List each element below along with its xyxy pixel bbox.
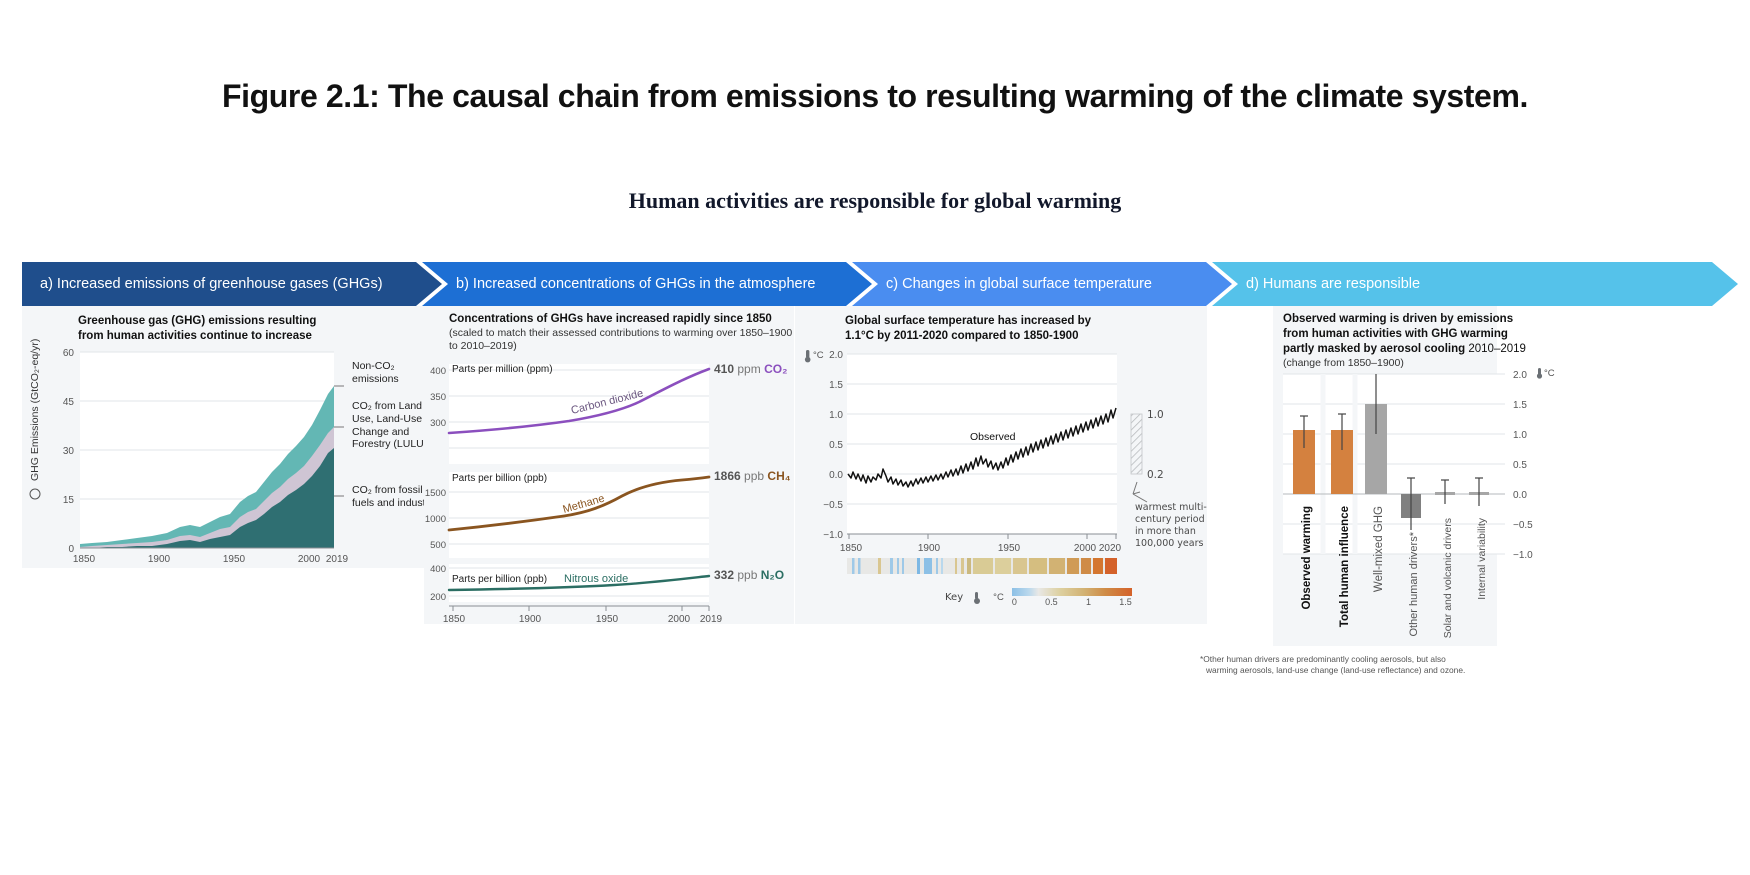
panel-d-cat-total-human-influence: Total human influence <box>1339 506 1351 627</box>
panel-d-cat-observed-warming: Observed warming <box>1301 506 1313 610</box>
panel-c-warming-stripes <box>847 558 1117 574</box>
panel-c-ytick-05: 0.5 <box>829 440 843 451</box>
chevron-d-label: d) Humans are responsible <box>1212 276 1420 292</box>
panel-d-ytick-15: 1.5 <box>1513 400 1527 411</box>
panel-b-subtitle-1: (scaled to match their assessed contribu… <box>449 327 794 340</box>
panel-b-unit-ppb-1: Parts per billion (ppb) <box>452 473 547 484</box>
panel-d-ytick-1: 1.0 <box>1513 430 1527 441</box>
panel-b-ch4-ytick-1000: 1000 <box>425 514 446 525</box>
panel-b-endvalue-co2: 410 ppm CO₂ <box>714 362 787 376</box>
panel-a-xtick-1850: 1850 <box>73 554 96 565</box>
panel-d-ytick-2: 2.0 <box>1513 370 1527 381</box>
panel-c-ytick-1: 1.0 <box>829 410 843 421</box>
panel-c-xtick-2020: 2020 <box>1099 543 1122 554</box>
panel-b-xtick-1900: 1900 <box>519 614 542 624</box>
panel-a-xtick-1900: 1900 <box>148 554 171 565</box>
panel-d-chart: °C 2.0 1.5 1.0 0.5 0.0 −0.5 −1.0 Observe… <box>1273 306 1573 646</box>
panel-b-ch4-ytick-1500: 1500 <box>425 488 446 499</box>
panel-c-series-label: Observed <box>970 431 1016 443</box>
panel-c-key-tick-05: 0.5 <box>1045 597 1058 607</box>
panel-a-ytick-30: 30 <box>63 446 75 457</box>
panel-b-n2o-ytick-200: 200 <box>430 592 446 603</box>
thermometer-icon <box>805 350 811 362</box>
panel-b-unit-ppb-2: Parts per billion (ppb) <box>452 574 547 585</box>
panel-a-title: Greenhouse gas (GHG) emissions resulting… <box>78 314 378 344</box>
panel-d-footnote: *Other human drivers are predominantly c… <box>1200 654 1500 677</box>
panel-d-cat-internal-variability: Internal variability <box>1476 517 1488 599</box>
panel-c-temperature: Global surface temperature has increased… <box>795 306 1207 624</box>
panel-d-cat-well-mixed-ghg: Well-mixed GHG <box>1373 506 1385 592</box>
panel-c-key-tick-15: 1.5 <box>1119 597 1132 607</box>
panel-a-ylabel: GHG Emissions (GtCO₂-eq/yr) <box>29 339 41 481</box>
figure-title: Figure 2.1: The causal chain from emissi… <box>0 78 1750 115</box>
panel-c-key: Key °C 0 0.5 1 1.5 <box>945 588 1185 607</box>
panel-c-annotation-arrow-icon <box>1133 482 1147 502</box>
panel-c-ytick-m05: −0.5 <box>823 500 843 511</box>
panel-b-n2o-ytick-400: 400 <box>430 564 446 575</box>
panel-d-unit: °C <box>1544 368 1555 379</box>
panel-b-title: Concentrations of GHGs have increased ra… <box>449 312 794 327</box>
panel-b-co2-ytick-350: 350 <box>430 392 446 403</box>
thermometer-icon-d <box>1537 368 1542 379</box>
panel-b-xtick-2000: 2000 <box>668 614 691 624</box>
chevron-a-label: a) Increased emissions of greenhouse gas… <box>22 276 383 292</box>
panel-d-cat-solar-volcanic: Solar and volcanic drivers <box>1442 518 1454 638</box>
panel-b-label-nitrous-oxide: Nitrous oxide <box>564 573 628 585</box>
panel-c-hatched-range-bar <box>1131 414 1142 474</box>
panel-a-xtick-2019: 2019 <box>326 554 349 565</box>
panel-a-xtick-2000: 2000 <box>298 554 321 565</box>
panel-b-subtitle-2: to 2010–2019) <box>449 340 794 353</box>
panel-a-emissions: Greenhouse gas (GHG) emissions resulting… <box>22 306 432 568</box>
panel-b-xtick-2019: 2019 <box>700 614 723 624</box>
panel-b-co2-ytick-300: 300 <box>430 418 446 429</box>
panel-a-xtick-1950: 1950 <box>223 554 246 565</box>
chevron-d: d) Humans are responsible <box>1212 262 1738 306</box>
panel-d-ytick-m05: −0.5 <box>1513 520 1533 531</box>
panel-d-ytick-05: 0.5 <box>1513 460 1527 471</box>
panel-b-xtick-1950: 1950 <box>596 614 619 624</box>
panel-b-endvalue-n2o: 332 ppb N₂O <box>714 568 784 582</box>
panel-d-attribution: Observed warming is driven by emissions … <box>1273 306 1497 646</box>
thermometer-icon-key <box>971 592 985 604</box>
panel-c-key-tick-0: 0 <box>1012 597 1017 607</box>
panel-c-annotation: warmest multi-century period in more tha… <box>1135 502 1213 550</box>
panel-c-title: Global surface temperature has increased… <box>845 314 1145 344</box>
panel-d-cat-other-human-drivers: Other human drivers* <box>1408 531 1420 636</box>
panel-b-title-block: Concentrations of GHGs have increased ra… <box>449 312 794 353</box>
panel-d-ytick-0: 0.0 <box>1513 490 1527 501</box>
panel-c-unit: °C <box>813 350 824 361</box>
chevron-c: c) Changes in global surface temperature <box>852 262 1232 306</box>
panel-c-ytick-15: 1.5 <box>829 380 843 391</box>
panel-a-ytick-45: 45 <box>63 397 75 408</box>
panel-b-unit-ppm: Parts per million (ppm) <box>452 364 553 375</box>
chevron-c-label: c) Changes in global surface temperature <box>852 276 1152 292</box>
chevron-band: a) Increased emissions of greenhouse gas… <box>22 262 1738 306</box>
panel-c-xtick-1850: 1850 <box>840 543 863 554</box>
panel-a-ytick-60: 60 <box>63 348 75 359</box>
panel-c-xtick-2000: 2000 <box>1074 543 1097 554</box>
panel-b-co2-ytick-400: 400 <box>430 366 446 377</box>
panel-c-xtick-1900: 1900 <box>918 543 941 554</box>
panel-b-endvalue-ch4: 1866 ppb CH₄ <box>714 469 790 483</box>
panel-c-ytick-m1: −1.0 <box>823 530 843 541</box>
panel-b-ch4-ytick-500: 500 <box>430 540 446 551</box>
panel-b-concentrations: Concentrations of GHGs have increased ra… <box>424 306 794 624</box>
panel-d-ytick-m1: −1.0 <box>1513 550 1533 561</box>
chevron-b: b) Increased concentrations of GHGs in t… <box>422 262 872 306</box>
panel-a-ytick-15: 15 <box>63 495 75 506</box>
panel-c-xtick-1950: 1950 <box>998 543 1021 554</box>
panel-c-ytick-0: 0.0 <box>829 470 843 481</box>
figure-subtitle: Human activities are responsible for glo… <box>0 188 1750 214</box>
panel-b-xtick-1850: 1850 <box>443 614 466 624</box>
panel-c-key-tick-1: 1 <box>1086 597 1091 607</box>
panel-c-hatch-top: 1.0 <box>1147 409 1164 421</box>
panel-c-chart: °C 2.0 1.5 1.0 0.5 0.0 −0.5 −1.0 Observe… <box>795 306 1207 624</box>
chevron-a: a) Increased emissions of greenhouse gas… <box>22 262 442 306</box>
panel-c-key-label: Key <box>945 592 963 603</box>
panel-c-ytick-2: 2.0 <box>829 350 843 361</box>
panel-c-hatch-bottom: 0.2 <box>1147 469 1164 481</box>
panel-c-key-unit: °C <box>993 592 1004 603</box>
chevron-b-label: b) Increased concentrations of GHGs in t… <box>422 276 815 292</box>
